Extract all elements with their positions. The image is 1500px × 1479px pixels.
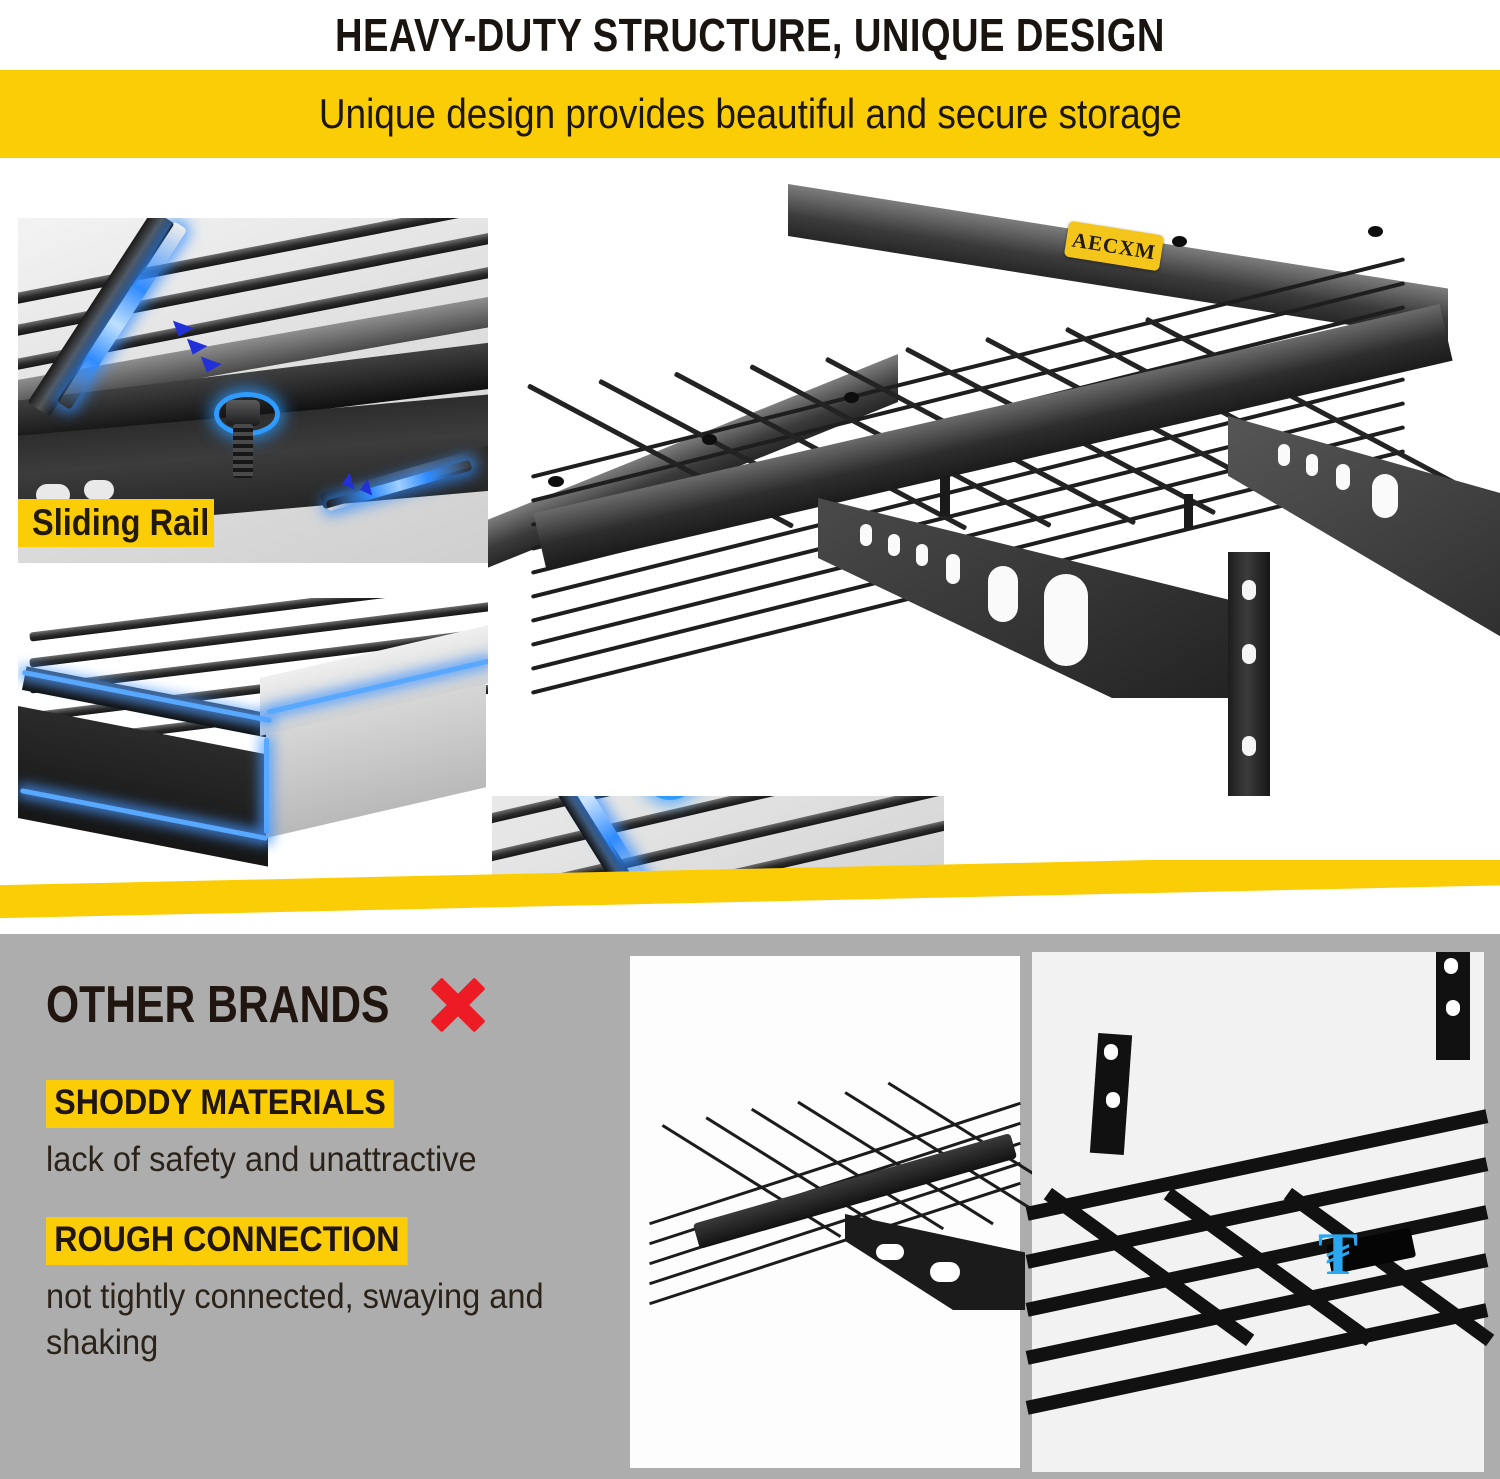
- sliding-rail-caption: Sliding Rail: [18, 499, 214, 547]
- mounting-hole: [1368, 226, 1383, 237]
- competitor-wire-shelf-photo: [630, 956, 1020, 1468]
- loose-joint-marker-icon: ₮: [1318, 1224, 1358, 1284]
- mounting-hole: [844, 392, 859, 403]
- bolt-shaft: [233, 424, 253, 478]
- mounting-hole: [702, 434, 717, 445]
- comparison-item: SHODDY MATERIALS lack of safety and unat…: [46, 1080, 606, 1183]
- comparison-heading: OTHER BRANDS: [46, 976, 606, 1034]
- comparison-heading-label: OTHER BRANDS: [46, 976, 390, 1034]
- bolt-head: [226, 400, 260, 426]
- mounting-hole: [548, 476, 564, 487]
- subtitle-band: Unique design provides beautiful and sec…: [0, 70, 1500, 158]
- comparison-item-desc: not tightly connected, swaying and shaki…: [46, 1274, 567, 1366]
- title-row: HEAVY-DUTY STRUCTURE, UNIQUE DESIGN: [0, 0, 1500, 70]
- corner-edge-glow: [264, 738, 269, 834]
- corner-detail-photo: [18, 598, 500, 878]
- comparison-item-tag: ROUGH CONNECTION: [46, 1217, 408, 1265]
- hero-product-photo: AECXM: [488, 176, 1500, 796]
- mounting-hole: [1172, 236, 1187, 247]
- red-cross-icon: [429, 976, 487, 1034]
- brand-badge-label: AECXM: [1070, 227, 1157, 265]
- comparison-item: ROUGH CONNECTION not tightly connected, …: [46, 1217, 606, 1366]
- support-bracket: [818, 498, 1238, 698]
- competitor-flatbar-shelf-photo: ₮: [1032, 952, 1484, 1472]
- page-subtitle: Unique design provides beautiful and sec…: [319, 86, 1182, 142]
- page-title: HEAVY-DUTY STRUCTURE, UNIQUE DESIGN: [335, 5, 1165, 65]
- comparison-text-column: OTHER BRANDS SHODDY MATERIALS lack of sa…: [46, 976, 606, 1400]
- comparison-item-desc: lack of safety and unattractive: [46, 1137, 567, 1183]
- header-banner: HEAVY-DUTY STRUCTURE, UNIQUE DESIGN Uniq…: [0, 0, 1500, 168]
- sliding-rail-caption-label: Sliding Rail: [32, 501, 209, 545]
- centre-post: [1184, 494, 1193, 528]
- centre-post: [940, 476, 950, 516]
- competitor-comparison-block: OTHER BRANDS SHODDY MATERIALS lack of sa…: [0, 934, 1500, 1479]
- feature-media-block: Sliding Rail: [0, 168, 1500, 912]
- sliding-rail-detail-photo: Sliding Rail: [18, 218, 500, 563]
- divider-bar: [0, 860, 1500, 919]
- comparison-item-tag: SHODDY MATERIALS: [46, 1080, 394, 1128]
